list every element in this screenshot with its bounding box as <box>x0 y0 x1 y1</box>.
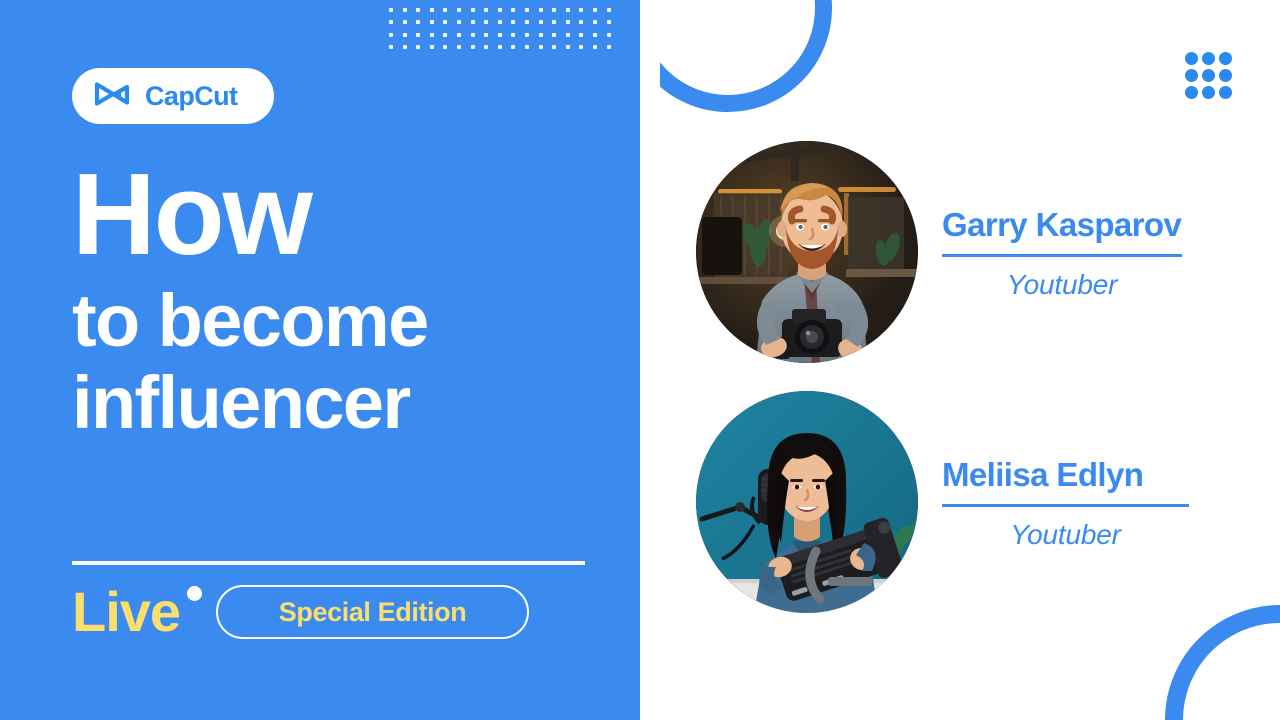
grid-dot <box>430 8 434 12</box>
special-edition-label: Special Edition <box>279 599 467 626</box>
grid-dot <box>607 20 611 24</box>
grid-dot <box>498 20 502 24</box>
grid-dot <box>607 45 611 49</box>
grid-dot <box>593 45 597 49</box>
grid-dot <box>389 45 393 49</box>
grid-dot <box>498 45 502 49</box>
grid-dot <box>566 33 570 37</box>
speaker-role: Youtuber <box>1010 521 1121 549</box>
grid-dot <box>552 33 556 37</box>
grid-dot <box>539 20 543 24</box>
live-badge-row: Live Special Edition <box>72 580 529 644</box>
grid-dot <box>471 33 475 37</box>
speaker-name-underline <box>942 504 1189 507</box>
grid-dot <box>1219 52 1232 65</box>
speaker-info: Garry Kasparov Youtuber <box>942 205 1182 299</box>
grid-dot <box>443 8 447 12</box>
speaker-name: Garry Kasparov <box>942 205 1181 245</box>
grid-dot <box>484 8 488 12</box>
grid-dot <box>416 20 420 24</box>
grid-dot <box>539 45 543 49</box>
arc-bottom-icon <box>1165 605 1280 720</box>
headline-line-2: to become <box>72 283 632 358</box>
grid-dot <box>1185 86 1198 99</box>
grid-dot <box>1219 69 1232 82</box>
grid-dot <box>593 8 597 12</box>
grid-dot <box>443 45 447 49</box>
grid-dot <box>1202 69 1215 82</box>
grid-dot <box>511 33 515 37</box>
grid-dot <box>593 20 597 24</box>
grid-dot <box>511 20 515 24</box>
grid-dot <box>430 20 434 24</box>
grid-dot <box>566 8 570 12</box>
grid-dot <box>552 45 556 49</box>
grid-dot <box>579 20 583 24</box>
grid-dot <box>389 8 393 12</box>
grid-dot <box>1185 52 1198 65</box>
grid-dot <box>457 45 461 49</box>
grid-dot <box>416 8 420 12</box>
grid-dot <box>389 33 393 37</box>
grid-dot <box>552 8 556 12</box>
headline-line-1: How <box>72 160 632 269</box>
live-indicator-dot-icon <box>187 586 202 601</box>
grid-dot <box>403 8 407 12</box>
live-label-wrap: Live <box>72 584 180 640</box>
grid-dot <box>443 20 447 24</box>
grid-dot <box>498 8 502 12</box>
grid-dot <box>579 8 583 12</box>
blue-dot-grid-icon <box>1185 52 1231 98</box>
grid-dot <box>403 20 407 24</box>
grid-dot <box>1219 86 1232 99</box>
grid-dot <box>471 20 475 24</box>
grid-dot <box>607 33 611 37</box>
grid-dot <box>457 20 461 24</box>
grid-dot <box>539 8 543 12</box>
grid-dot <box>552 20 556 24</box>
grid-dot <box>1202 86 1215 99</box>
grid-dot <box>1202 52 1215 65</box>
speaker-name-underline <box>942 254 1182 257</box>
grid-dot <box>403 45 407 49</box>
grid-dot <box>403 33 407 37</box>
capcut-hourglass-icon <box>94 81 134 111</box>
grid-dot <box>607 8 611 12</box>
grid-dot <box>471 8 475 12</box>
grid-dot <box>457 8 461 12</box>
speaker-card-1[interactable]: Garry Kasparov Youtuber <box>696 141 1182 363</box>
capcut-logo[interactable]: CapCut <box>72 68 274 124</box>
grid-dot <box>430 45 434 49</box>
grid-dot <box>471 45 475 49</box>
grid-dot <box>525 45 529 49</box>
grid-dot <box>525 8 529 12</box>
grid-dot <box>593 33 597 37</box>
capcut-wordmark: CapCut <box>145 83 237 110</box>
grid-dot <box>484 45 488 49</box>
grid-dot <box>484 33 488 37</box>
grid-dot <box>389 20 393 24</box>
headline-line-3: influencer <box>72 365 632 440</box>
headline-block: How to become influencer <box>72 160 632 440</box>
grid-dot <box>579 33 583 37</box>
special-edition-pill[interactable]: Special Edition <box>216 585 529 639</box>
speaker-card-2[interactable]: Meliisa Edlyn Youtuber <box>696 391 1189 613</box>
grid-dot <box>484 20 488 24</box>
avatar <box>696 141 918 363</box>
white-dot-grid-icon <box>389 8 615 50</box>
headline-divider <box>72 561 585 565</box>
grid-dot <box>1185 69 1198 82</box>
grid-dot <box>566 45 570 49</box>
grid-dot <box>457 33 461 37</box>
speaker-info: Meliisa Edlyn Youtuber <box>942 455 1189 549</box>
grid-dot <box>416 45 420 49</box>
speaker-name: Meliisa Edlyn <box>942 455 1143 495</box>
live-label: Live <box>72 584 180 640</box>
grid-dot <box>443 33 447 37</box>
grid-dot <box>525 33 529 37</box>
grid-dot <box>511 45 515 49</box>
grid-dot <box>539 33 543 37</box>
grid-dot <box>498 33 502 37</box>
grid-dot <box>566 20 570 24</box>
grid-dot <box>525 20 529 24</box>
grid-dot <box>416 33 420 37</box>
avatar <box>696 391 918 613</box>
grid-dot <box>511 8 515 12</box>
speaker-role: Youtuber <box>1007 271 1118 299</box>
grid-dot <box>430 33 434 37</box>
grid-dot <box>579 45 583 49</box>
poster-canvas: CapCut How to become influencer Live Spe… <box>0 0 1280 720</box>
